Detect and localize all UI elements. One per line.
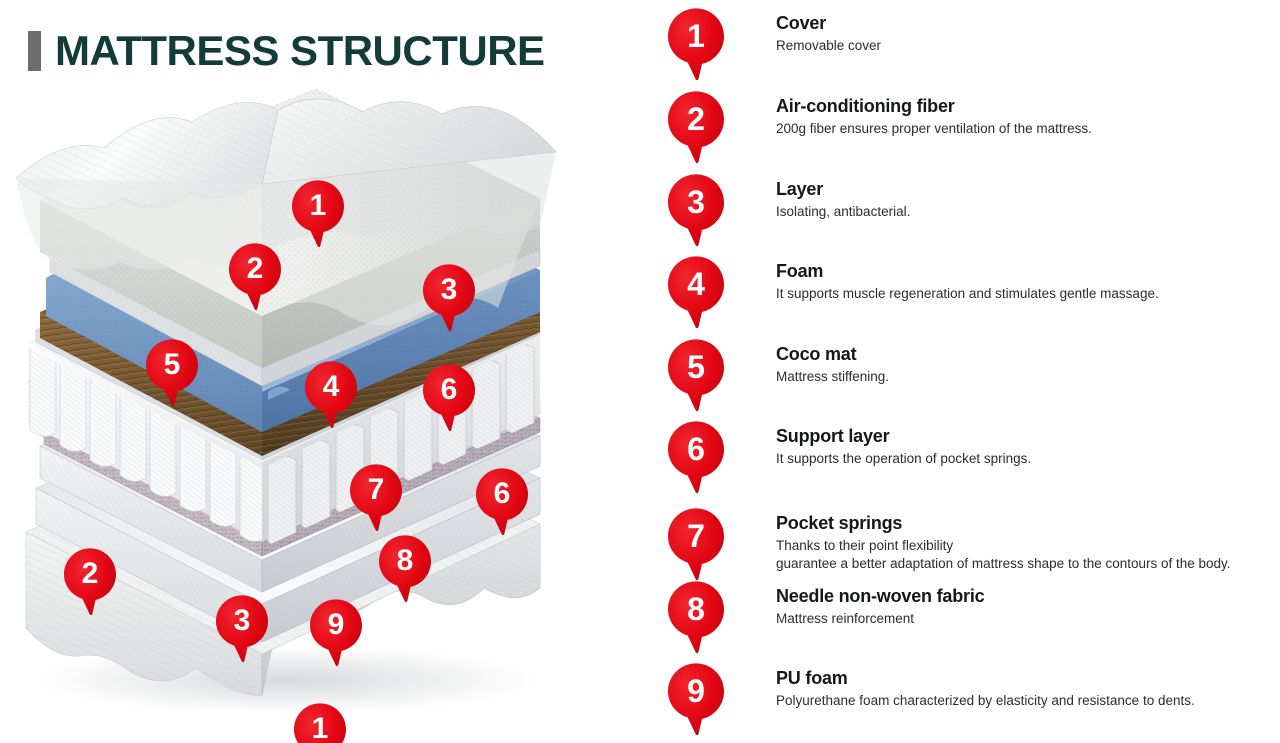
legend-pin-3: 3 — [668, 174, 724, 246]
legend-item-title: Layer — [776, 179, 910, 200]
legend-pin-4: 4 — [668, 256, 724, 328]
legend-item-support-layer[interactable]: 6 Support layer It supports the operatio… — [668, 421, 1031, 493]
legend-item-title: PU foam — [776, 668, 1195, 689]
legend-pin-8: 8 — [668, 581, 724, 653]
legend-text-block: Cover Removable cover — [776, 8, 881, 55]
legend-item-foam[interactable]: 4 Foam It supports muscle regeneration a… — [668, 256, 1159, 328]
legend-item-needle-non-woven-fabric[interactable]: 8 Needle non-woven fabric Mattress reinf… — [668, 581, 984, 653]
legend-text-block: Foam It supports muscle regeneration and… — [776, 256, 1159, 303]
legend-item-description: Removable cover — [776, 37, 881, 55]
page-title-block: MATTRESS STRUCTURE — [28, 30, 545, 72]
page-title: MATTRESS STRUCTURE — [55, 30, 545, 72]
legend-item-description: Mattress stiffening. — [776, 368, 889, 386]
legend-item-title: Pocket springs — [776, 513, 1231, 534]
legend-pin-1: 1 — [668, 8, 724, 80]
legend-item-title: Foam — [776, 261, 1159, 282]
legend-list: 1 Cover Removable cover 2 Air-conditioni… — [668, 0, 1280, 743]
legend-item-description: Isolating, antibacterial. — [776, 203, 910, 221]
legend-item-layer[interactable]: 3 Layer Isolating, antibacterial. — [668, 174, 910, 246]
legend-text-block: Coco mat Mattress stiffening. — [776, 339, 889, 386]
legend-text-block: Support layer It supports the operation … — [776, 421, 1031, 468]
legend-pin-9: 9 — [668, 663, 724, 735]
legend-text-block: Pocket springs Thanks to their point fle… — [776, 508, 1231, 572]
legend-item-coco-mat[interactable]: 5 Coco mat Mattress stiffening. — [668, 339, 889, 411]
legend-pin-5: 5 — [668, 339, 724, 411]
diagram-pin-foam[interactable]: 4 — [305, 361, 357, 429]
legend-item-title: Air-conditioning fiber — [776, 96, 1092, 117]
legend-item-title: Needle non-woven fabric — [776, 586, 984, 607]
diagram-pin-layer-lower[interactable]: 3 — [216, 595, 268, 663]
title-accent-bar — [28, 31, 41, 71]
diagram-pin-support-layer-upper[interactable]: 6 — [423, 364, 475, 432]
legend-item-description: Polyurethane foam characterized by elast… — [776, 692, 1195, 710]
diagram-pin-coco-mat[interactable]: 5 — [146, 339, 198, 407]
legend-pin-2: 2 — [668, 91, 724, 163]
mattress-illustration: 1 2 3 5 — [0, 80, 640, 720]
diagram-pin-cover-bottom[interactable]: 1 — [294, 703, 346, 743]
legend-item-description: 200g fiber ensures proper ventilation of… — [776, 120, 1092, 138]
legend-text-block: Layer Isolating, antibacterial. — [776, 174, 910, 221]
diagram-pin-pu-foam[interactable]: 9 — [310, 599, 362, 667]
legend-item-description: It supports the operation of pocket spri… — [776, 450, 1031, 468]
legend-item-pu-foam[interactable]: 9 PU foam Polyurethane foam characterize… — [668, 663, 1195, 735]
diagram-pin-air-conditioning-fiber-lower[interactable]: 2 — [64, 548, 116, 616]
legend-item-title: Support layer — [776, 426, 1031, 447]
diagram-pin-cover-top[interactable]: 1 — [292, 180, 344, 248]
legend-item-description: Thanks to their point flexibility guaran… — [776, 537, 1231, 573]
legend-item-description: Mattress reinforcement — [776, 610, 984, 628]
legend-item-cover[interactable]: 1 Cover Removable cover — [668, 8, 881, 80]
diagram-pin-support-layer-lower[interactable]: 6 — [476, 468, 528, 536]
diagram-pin-layer[interactable]: 3 — [423, 264, 475, 332]
infographic-page: MATTRESS STRUCTURE — [0, 0, 1280, 743]
diagram-pin-pocket-springs[interactable]: 7 — [350, 464, 402, 532]
legend-text-block: Needle non-woven fabric Mattress reinfor… — [776, 581, 984, 628]
legend-item-title: Coco mat — [776, 344, 889, 365]
legend-item-air-conditioning-fiber[interactable]: 2 Air-conditioning fiber 200g fiber ensu… — [668, 91, 1092, 163]
legend-item-description: It supports muscle regeneration and stim… — [776, 285, 1159, 303]
diagram-pin-air-conditioning-fiber[interactable]: 2 — [229, 243, 281, 311]
legend-item-pocket-springs[interactable]: 7 Pocket springs Thanks to their point f… — [668, 508, 1231, 580]
legend-text-block: PU foam Polyurethane foam characterized … — [776, 663, 1195, 710]
diagram-pin-needle-non-woven-fabric[interactable]: 8 — [379, 535, 431, 603]
legend-text-block: Air-conditioning fiber 200g fiber ensure… — [776, 91, 1092, 138]
legend-pin-6: 6 — [668, 421, 724, 493]
legend-pin-7: 7 — [668, 508, 724, 580]
legend-item-title: Cover — [776, 13, 881, 34]
